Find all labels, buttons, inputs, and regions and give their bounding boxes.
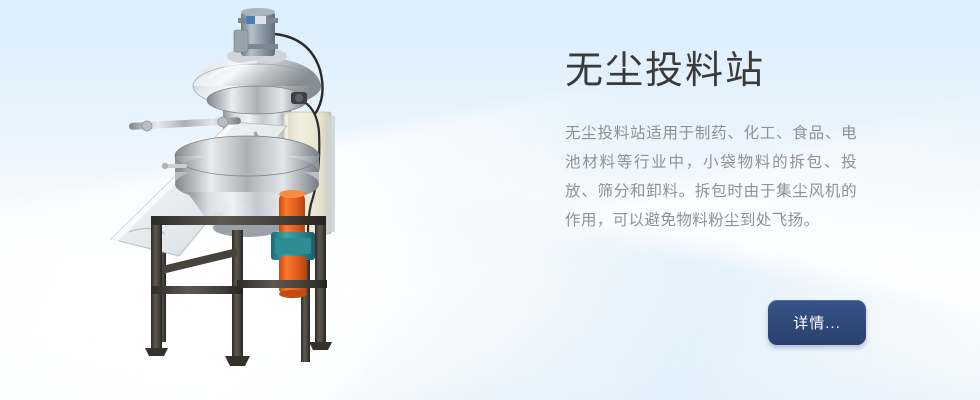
page-title: 无尘投料站 — [565, 48, 925, 94]
copy-block: 无尘投料站 无尘投料站适用于制药、化工、食品、电池材料等行业中，小袋物料的拆包、… — [565, 48, 925, 235]
product-description: 无尘投料站适用于制药、化工、食品、电池材料等行业中，小袋物料的拆包、投放、筛分和… — [565, 94, 857, 235]
details-button[interactable]: 详情... — [768, 300, 866, 345]
cable-junction — [291, 92, 307, 104]
product-banner: 无尘投料站 无尘投料站适用于制药、化工、食品、电池材料等行业中，小袋物料的拆包、… — [0, 0, 980, 400]
product-image — [105, 4, 405, 374]
top-drive-motor — [234, 8, 278, 56]
